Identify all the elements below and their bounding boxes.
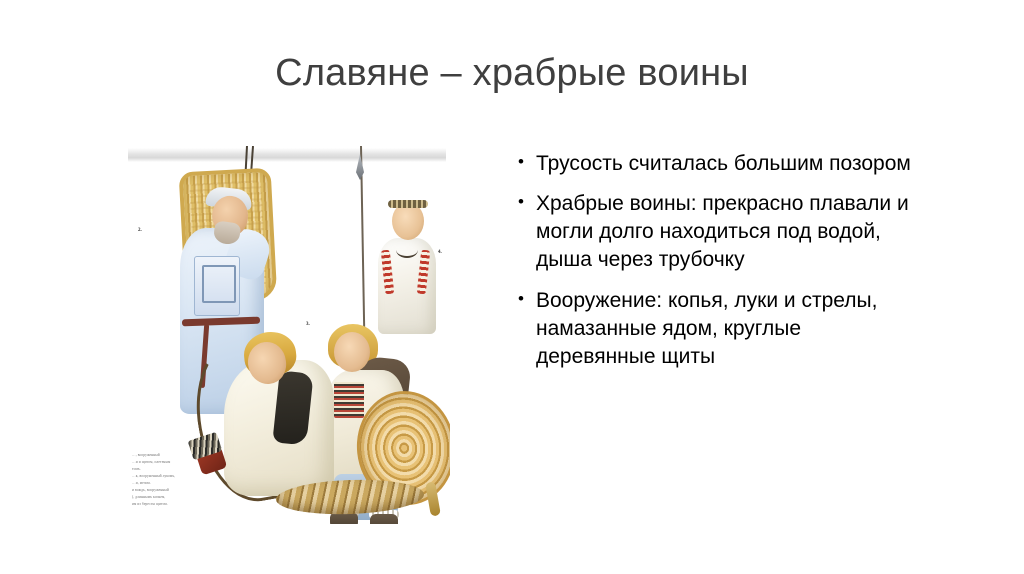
- illustration-caption: …, вооруженный …и и щитом, плетеным томъ…: [132, 452, 216, 508]
- figure-label-3: 3.: [306, 322, 310, 327]
- bullet-list: • Трусость считалась большим позором • Х…: [518, 150, 922, 371]
- figure-label-4: 4.: [438, 250, 442, 255]
- figure4-necklace: [396, 242, 418, 258]
- list-item: • Трусость считалась большим позором: [518, 150, 922, 178]
- bullet-text: Трусость считалась большим позором: [536, 150, 922, 178]
- list-item: • Храбрые воины: прекрасно плавали и мог…: [518, 190, 922, 274]
- spear-head-icon: [356, 154, 364, 180]
- presentation-slide: Славяне – храбрые воины 4.: [0, 0, 1024, 574]
- bullet-text: Вооружение: копья, луки и стрелы, намаза…: [536, 287, 922, 371]
- illustration-stage: 4. 2.: [128, 146, 450, 524]
- bullet-marker-icon: •: [518, 287, 536, 311]
- figure4-headband: [388, 200, 428, 208]
- figure3-boot-right: [370, 514, 398, 524]
- figure-label-2: 2.: [138, 228, 142, 233]
- bullet-text: Храбрые воины: прекрасно плавали и могли…: [536, 190, 922, 274]
- list-item: • Вооружение: копья, луки и стрелы, нама…: [518, 287, 922, 371]
- page-title: Славяне – храбрые воины: [0, 52, 1024, 96]
- bullet-marker-icon: •: [518, 190, 536, 214]
- figure3-head: [334, 332, 370, 372]
- figure1-apron: [194, 256, 240, 316]
- figure3-embroidery: [334, 382, 364, 418]
- bullet-marker-icon: •: [518, 150, 536, 174]
- slavic-warriors-illustration[interactable]: 4. 2.: [128, 146, 450, 524]
